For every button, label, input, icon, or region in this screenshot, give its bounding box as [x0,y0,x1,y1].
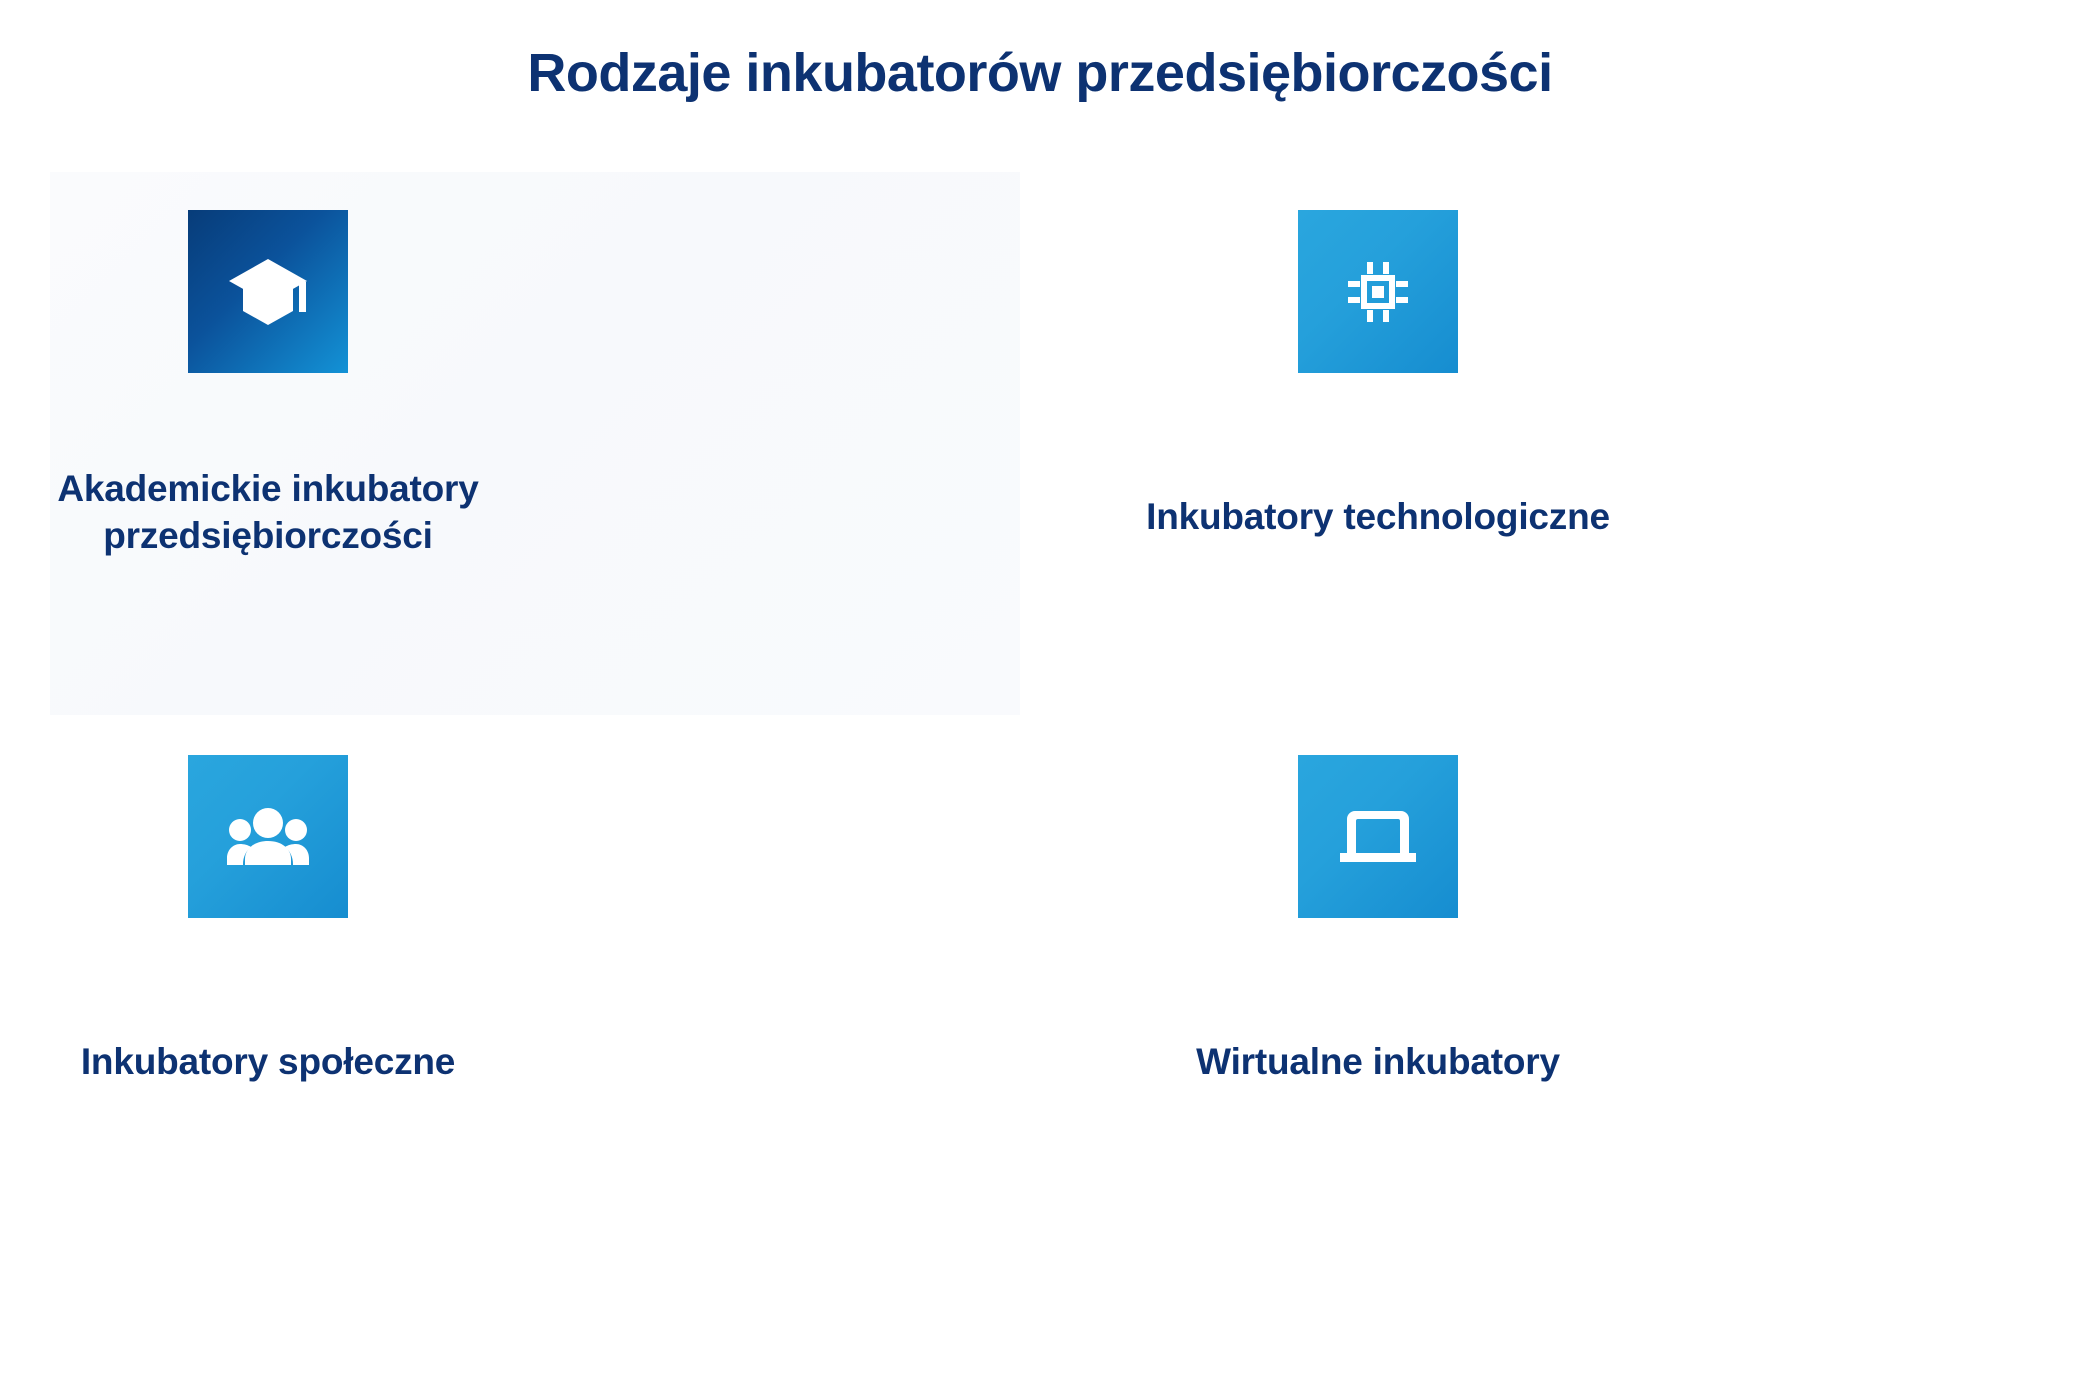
card-wirtualne[interactable]: Wirtualne inkubatory [1020,715,2080,1258]
card-label: Akademickie inkubatory przedsiębiorczośc… [0,465,618,560]
card-label-line2: przedsiębiorczości [103,515,433,556]
card-label-line1: Inkubatory społeczne [81,1041,455,1082]
cpu-chip-icon [1340,254,1416,330]
cpu-chip-icon-tile [1298,210,1458,373]
card-spoleczne[interactable]: Inkubatory społeczne [0,715,1020,1258]
card-grid: Akademickie inkubatory przedsiębiorczośc… [0,172,2080,1352]
card-label: Inkubatory społeczne [0,1038,648,1085]
card-label-line1: Wirtualne inkubatory [1196,1041,1560,1082]
people-group-icon [225,806,311,868]
graduation-cap-icon [227,257,309,327]
graduation-cap-icon-tile [188,210,348,373]
people-group-icon-tile [188,755,348,918]
card-akademickie[interactable]: Akademickie inkubatory przedsiębiorczośc… [0,172,1020,715]
laptop-icon-tile [1298,755,1458,918]
page-title: Rodzaje inkubatorów przedsiębiorczości [0,42,2080,104]
card-content: Akademickie inkubatory przedsiębiorczośc… [0,172,1020,560]
card-content: Wirtualne inkubatory [1020,715,2080,1085]
card-label-line1: Inkubatory technologiczne [1146,496,1610,537]
card-label: Wirtualne inkubatory [998,1038,1758,1085]
card-label-line1: Akademickie inkubatory [57,468,478,509]
card-technologiczne[interactable]: Inkubatory technologiczne [1020,172,2080,715]
infographic-root: Rodzaje inkubatorów przedsiębiorczości A… [0,0,2080,1388]
laptop-icon [1335,805,1421,869]
card-label: Inkubatory technologiczne [968,493,1788,540]
card-content: Inkubatory społeczne [0,715,1020,1085]
card-content: Inkubatory technologiczne [1020,172,2080,540]
